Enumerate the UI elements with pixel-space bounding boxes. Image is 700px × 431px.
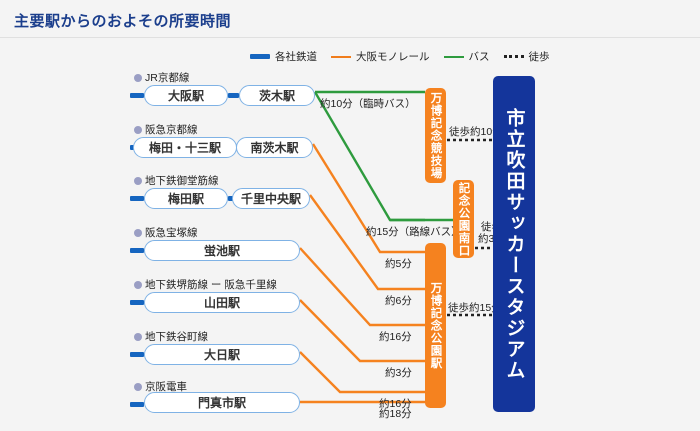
monorail-line-senrichuo: [310, 195, 425, 289]
line-label-hankyu-takarazuka: 阪急宝塚線: [134, 225, 198, 240]
bus-line-route: [315, 92, 425, 220]
line-name-text: 阪急宝塚線: [145, 225, 198, 240]
node-banpaku-kinen-koen-eki[interactable]: 万博記念公園駅: [425, 243, 446, 408]
rail-stub-icon: [130, 248, 144, 253]
duration-bus-temporary: 約10分（臨時バス）: [320, 96, 416, 111]
rail-stub-icon: [228, 93, 239, 98]
bullet-icon: [134, 177, 142, 185]
bullet-icon: [134, 229, 142, 237]
bullet-icon: [134, 126, 142, 134]
rail-stub-icon: [130, 402, 144, 407]
duration-monorail-minamiibaraki: 約5分: [385, 256, 412, 271]
page-title: 主要駅からのおよその所要時間: [14, 10, 231, 31]
station-hotarugaike[interactable]: 蛍池駅: [144, 240, 300, 261]
station-kadomashi[interactable]: 門真市駅: [144, 392, 300, 413]
title-divider: [0, 37, 700, 38]
station-umeda-juso[interactable]: 梅田・十三駅: [133, 137, 237, 158]
station-umeda[interactable]: 梅田駅: [144, 188, 228, 209]
bullet-icon: [134, 383, 142, 391]
line-name-text: JR京都線: [145, 70, 189, 85]
line-label-jr-kyoto: JR京都線: [134, 70, 189, 85]
route-lines: [0, 62, 700, 422]
bus-swatch-icon: [444, 56, 464, 58]
rail-stub-icon: [130, 93, 144, 98]
station-senri-chuo[interactable]: 千里中央駅: [232, 188, 310, 209]
line-name-text: 地下鉄谷町線: [145, 329, 208, 344]
duration-monorail-hotarugaike: 約16分: [379, 329, 412, 344]
bullet-icon: [134, 333, 142, 341]
line-name-text: 地下鉄御堂筋線: [145, 173, 219, 188]
walk-swatch-icon: [504, 55, 524, 58]
bullet-icon: [134, 281, 142, 289]
line-label-sakaisuji-senri: 地下鉄堺筋線 ー 阪急千里線: [134, 277, 277, 292]
duration-monorail-kadomashi: 約18分: [379, 406, 412, 421]
station-dainichi[interactable]: 大日駅: [144, 344, 300, 365]
rail-stub-icon: [130, 300, 144, 305]
line-name-text: 地下鉄堺筋線 ー 阪急千里線: [145, 277, 277, 292]
node-banpaku-kinen-kyogijo[interactable]: 万博記念競技場: [425, 88, 446, 183]
station-yamada[interactable]: 山田駅: [144, 292, 300, 313]
rail-stub-icon: [130, 352, 144, 357]
line-name-text: 阪急京都線: [145, 122, 198, 137]
access-diagram-page: 主要駅からのおよその所要時間 各社鉄道 大阪モノレール バス 徒歩: [0, 0, 700, 431]
line-label-midosuji: 地下鉄御堂筋線: [134, 173, 219, 188]
line-label-hankyu-kyoto: 阪急京都線: [134, 122, 198, 137]
duration-monorail-senrichuo: 約6分: [385, 293, 412, 308]
station-minami-ibaraki[interactable]: 南茨木駅: [236, 137, 313, 158]
station-ibaraki[interactable]: 茨木駅: [239, 85, 315, 106]
station-osaka[interactable]: 大阪駅: [144, 85, 228, 106]
duration-bus-route: 約15分（路線バス）: [366, 224, 462, 239]
node-stadium[interactable]: 市立吹田サッカースタジアム: [493, 76, 535, 412]
rail-swatch-icon: [250, 54, 270, 59]
node-kinen-koen-minamiguchi[interactable]: 記念公園南口: [453, 180, 474, 258]
line-label-tanimachi: 地下鉄谷町線: [134, 329, 208, 344]
bullet-icon: [134, 74, 142, 82]
monorail-swatch-icon: [331, 56, 351, 58]
duration-monorail-yamada: 約3分: [385, 365, 412, 380]
diagram-canvas: JR京都線 大阪駅 茨木駅 阪急京都線 梅田・十三駅 南茨木駅 地下鉄御堂筋線: [0, 62, 700, 422]
rail-stub-icon: [130, 196, 144, 201]
